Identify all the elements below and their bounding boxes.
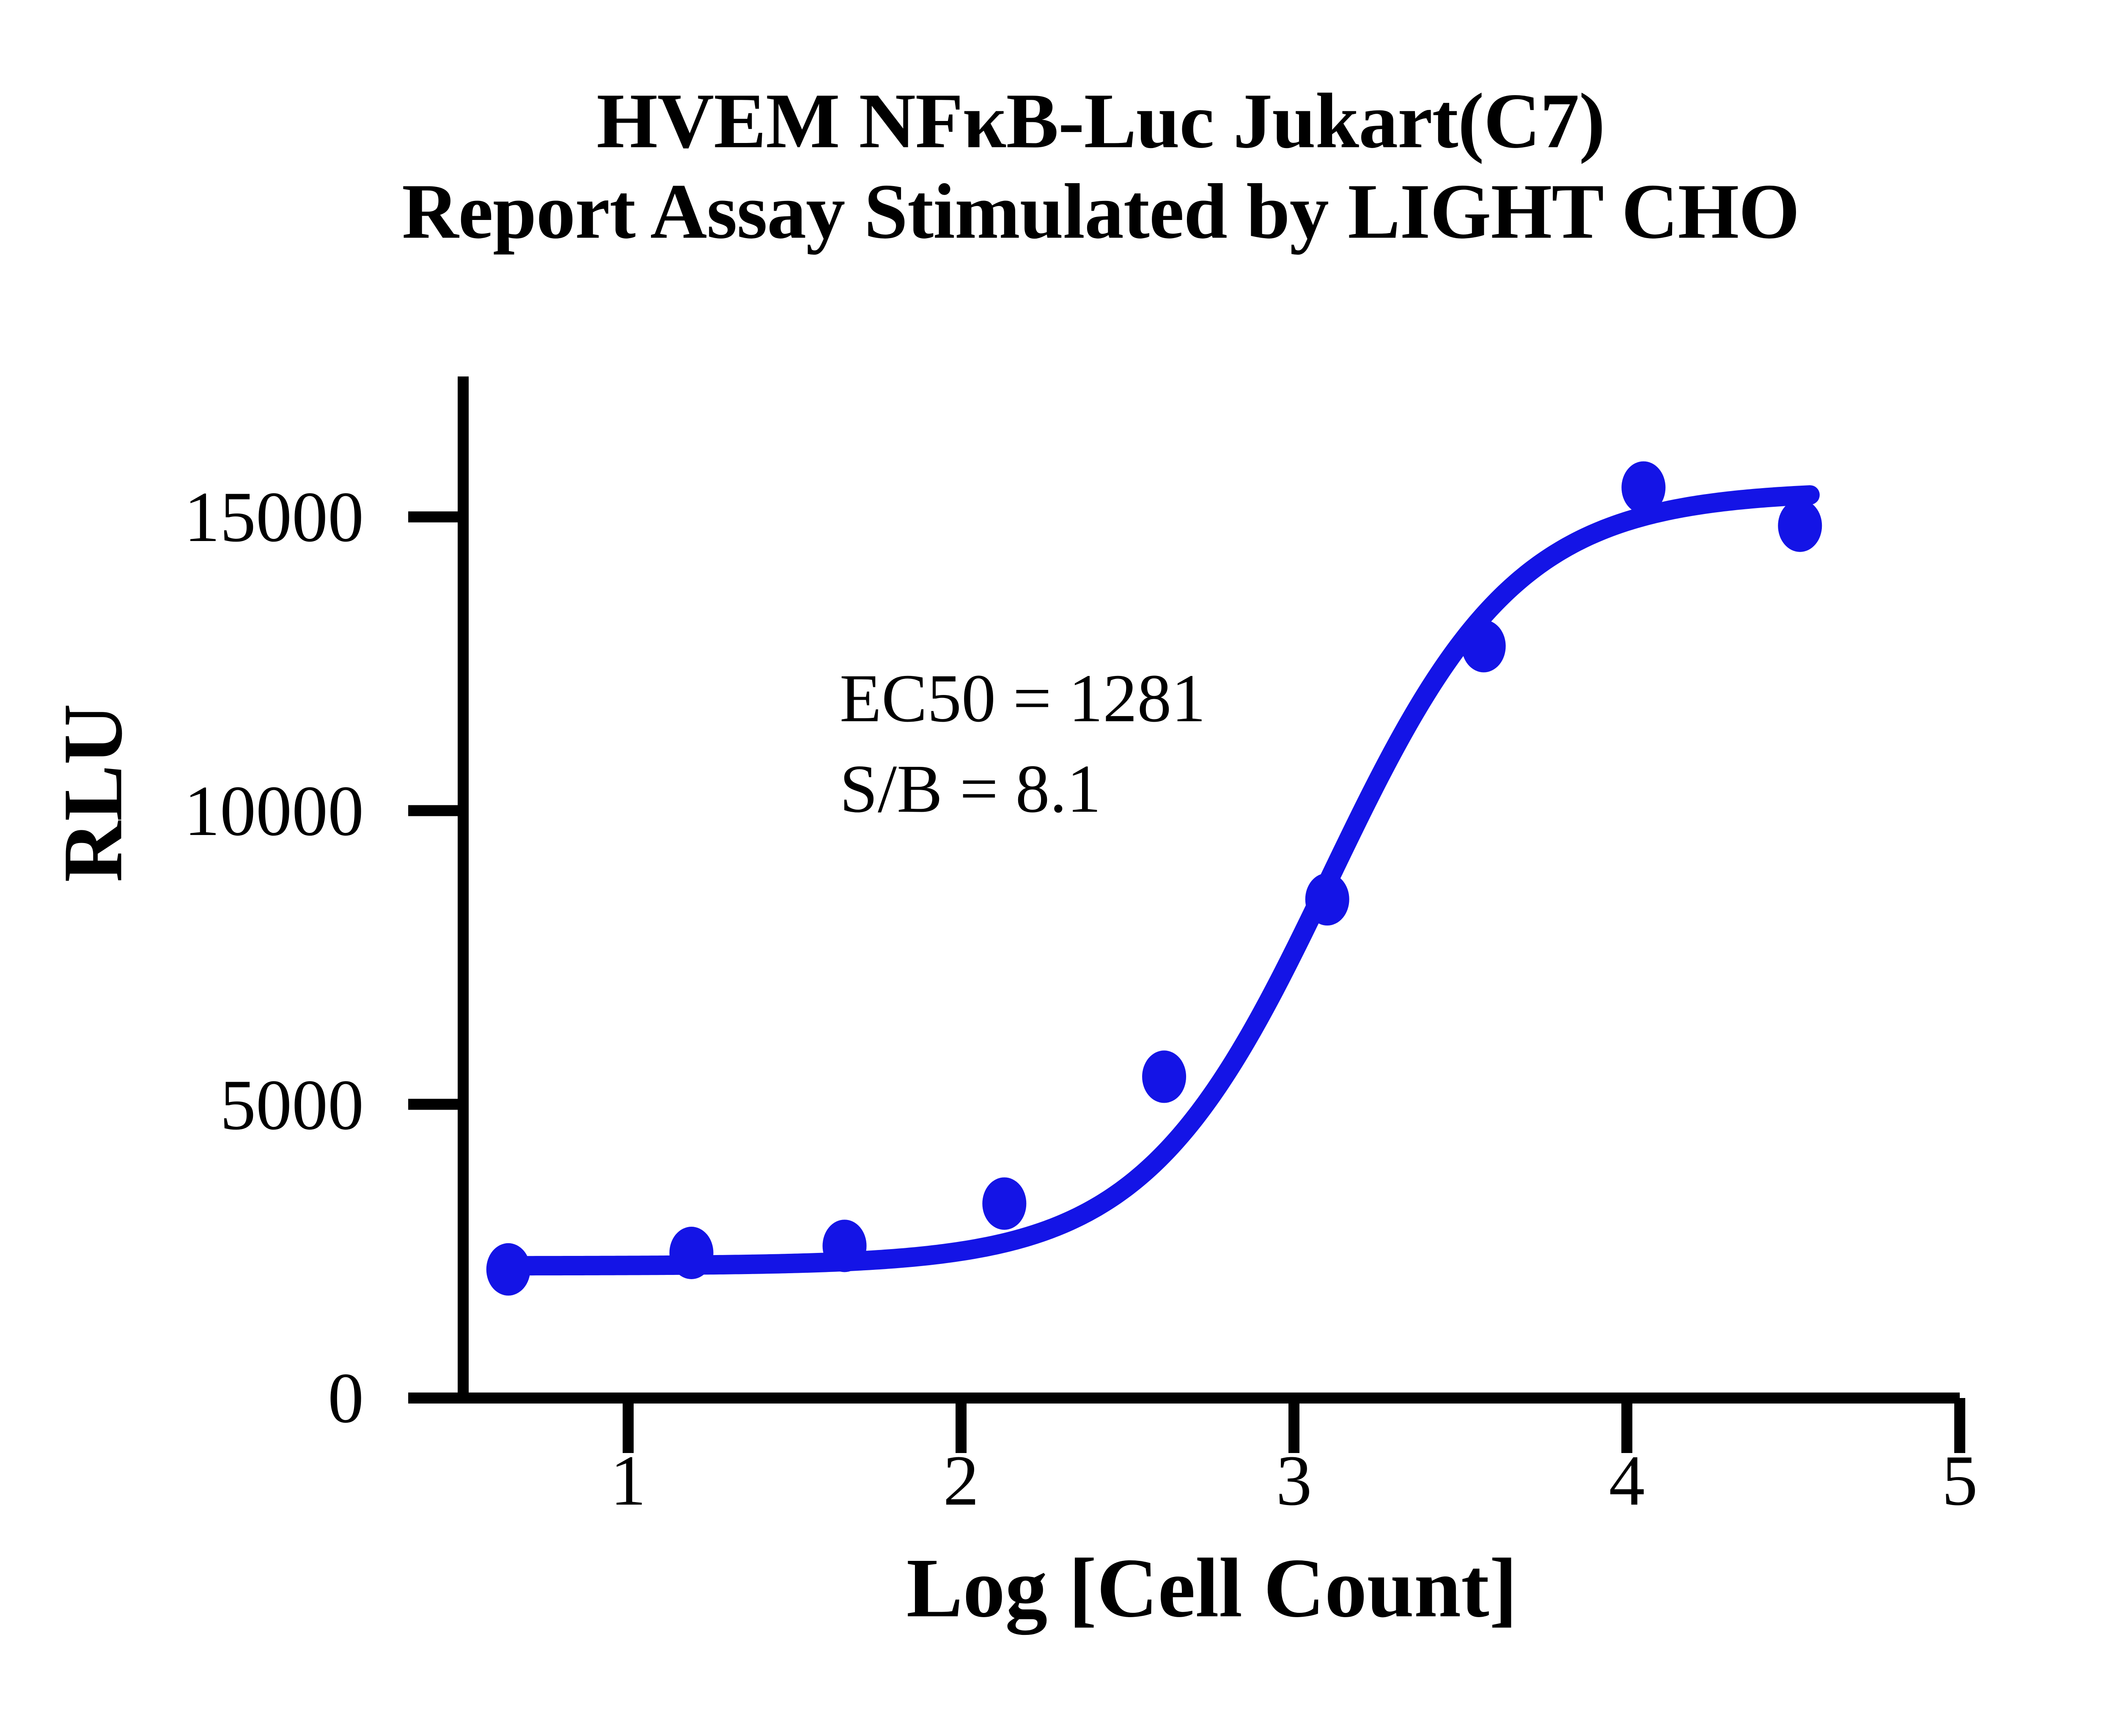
y-tick-label-0: 0 bbox=[0, 1362, 364, 1434]
data-point bbox=[1462, 620, 1506, 673]
y-tick-label-15000: 15000 bbox=[0, 481, 364, 553]
y-tick-group bbox=[408, 517, 463, 1398]
x-tick-label-3: 3 bbox=[1231, 1445, 1357, 1516]
y-tick-label-5000: 5000 bbox=[0, 1069, 364, 1141]
x-tick-label-2: 2 bbox=[898, 1445, 1025, 1516]
x-tick-label-4: 4 bbox=[1563, 1445, 1690, 1516]
data-point bbox=[1305, 873, 1349, 926]
plot-area: 0 5000 10000 15000 1 2 3 4 5 RLU Log [Ce… bbox=[0, 0, 2115, 1736]
y-axis-title: RLU bbox=[45, 645, 142, 941]
x-axis-title: Log [Cell Count] bbox=[461, 1540, 1963, 1637]
fit-annotation-block: EC50 = 1281 S/B = 8.1 bbox=[840, 654, 1206, 835]
x-tick-label-1: 1 bbox=[565, 1445, 692, 1516]
x-tick-label-5: 5 bbox=[1896, 1445, 2023, 1516]
data-point bbox=[823, 1220, 867, 1272]
data-point bbox=[1142, 1050, 1186, 1103]
data-point bbox=[670, 1227, 714, 1279]
data-point bbox=[1621, 461, 1665, 514]
plot-canvas bbox=[0, 0, 2115, 1736]
data-point bbox=[982, 1177, 1026, 1230]
chart-figure: HVEM NFκB-Luc Jukart(C7) Report Assay St… bbox=[0, 0, 2115, 1736]
data-point bbox=[486, 1243, 530, 1296]
ec50-annotation: EC50 = 1281 bbox=[840, 654, 1206, 744]
data-point bbox=[1778, 500, 1822, 552]
sb-annotation: S/B = 8.1 bbox=[840, 744, 1206, 835]
fit-curve bbox=[502, 495, 1810, 1266]
